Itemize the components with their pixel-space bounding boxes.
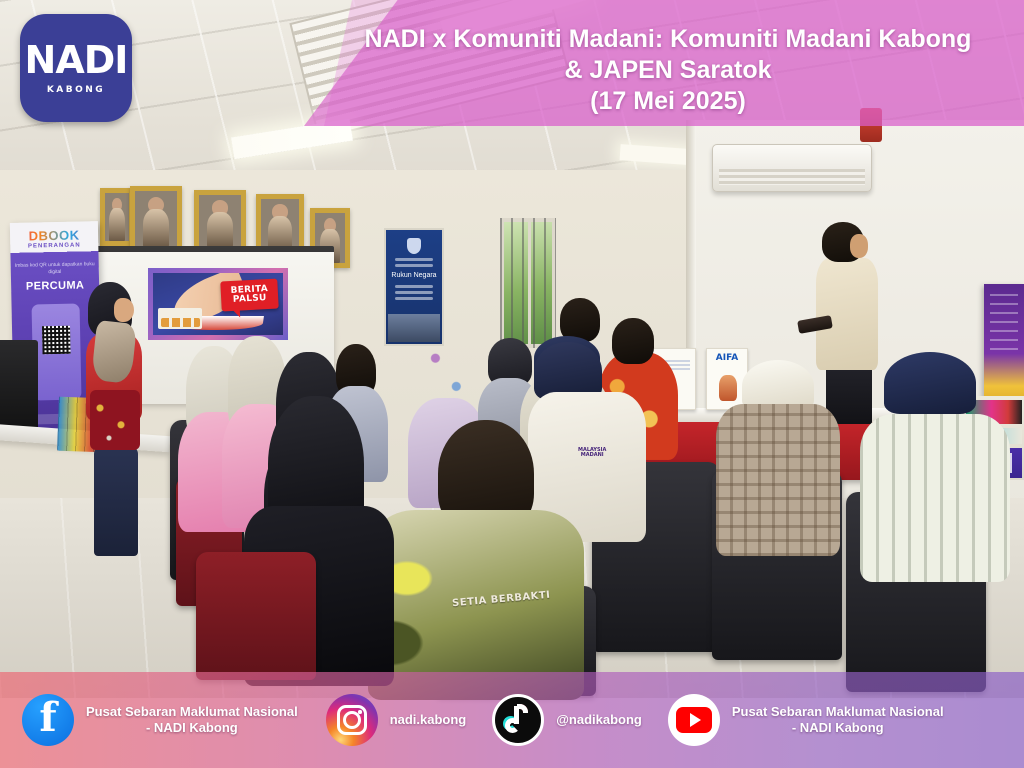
facebook-glyph: f	[39, 698, 56, 738]
standing-attendee	[822, 222, 892, 432]
social-item-tiktok[interactable]: @nadikabong	[492, 672, 642, 768]
title-line-1: NADI x Komuniti Madani: Komuniti Madani …	[330, 24, 1006, 55]
standee-line	[395, 291, 433, 294]
standee-line	[395, 258, 433, 261]
title-line-2: & JAPEN Saratok	[330, 55, 1006, 86]
rukun-negara-standee: Rukun Negara	[384, 228, 444, 346]
social-footer: f Pusat Sebaran Maklumat Nasional - NADI…	[0, 672, 1024, 768]
aifa-figure	[719, 375, 737, 401]
berita-palsu-stamp: BERITA PALSU	[220, 279, 279, 312]
title-line-3: (17 Mei 2025)	[330, 86, 1006, 117]
malaysia-madani-badge: MALAYSIA MADANI	[578, 448, 606, 458]
facebook-label-line1: Pusat Sebaran Maklumat Nasional	[86, 704, 298, 720]
window-grill	[500, 218, 556, 348]
instagram-label: nadi.kabong	[390, 712, 467, 728]
youtube-glyph	[676, 707, 712, 733]
slide-content: BERITA PALSU	[153, 273, 283, 335]
dbook-logo: DBOOK PENERANGAN	[10, 227, 98, 250]
presenter	[88, 282, 148, 558]
presentation-slide: BERITA PALSU	[148, 268, 288, 340]
purple-wall-banner	[984, 284, 1024, 400]
dbook-tagline: Imbas kod QR untuk dapatkan buku digital	[11, 261, 99, 277]
attendee-body	[860, 414, 1010, 582]
social-item-instagram[interactable]: nadi.kabong	[326, 672, 467, 768]
berita-palsu-line2: PALSU	[232, 294, 266, 305]
facebook-label-line2: - NADI Kabong	[86, 720, 298, 736]
presenter-trousers	[94, 446, 138, 556]
social-item-facebook[interactable]: f Pusat Sebaran Maklumat Nasional - NADI…	[22, 672, 298, 768]
youtube-label-line2: - NADI Kabong	[732, 720, 944, 736]
air-conditioner	[712, 144, 872, 192]
instagram-icon[interactable]	[326, 694, 378, 746]
attendee-body	[716, 404, 840, 556]
attendee-cap	[884, 352, 976, 414]
standee-line	[395, 264, 433, 267]
logo-brand-text: NADI	[25, 41, 128, 79]
attendee-head	[612, 318, 654, 364]
attendee-face	[850, 234, 868, 258]
logo-location-text: KABONG	[47, 85, 105, 95]
standee-line	[395, 285, 433, 288]
presenter-face	[114, 298, 134, 322]
dbook-logo-subtitle: PENERANGAN	[10, 242, 98, 250]
standee-line	[395, 297, 433, 300]
tiktok-glyph	[503, 704, 533, 736]
wall-portrait	[100, 188, 134, 246]
crest-icon	[407, 238, 421, 254]
tiktok-icon[interactable]	[492, 694, 544, 746]
standee-title: Rukun Negara	[386, 272, 442, 279]
auditorium-chair	[196, 552, 316, 680]
wall-portrait	[194, 190, 246, 252]
youtube-label: Pusat Sebaran Maklumat Nasional - NADI K…	[732, 704, 944, 736]
badge-line2: MADANI	[581, 452, 604, 458]
slide-food-card	[158, 308, 202, 329]
presenter-batik	[90, 390, 140, 450]
nadi-kabong-logo: NADI KABONG	[20, 14, 132, 122]
facebook-icon[interactable]: f	[22, 694, 74, 746]
desktop-monitor	[0, 340, 38, 436]
youtube-label-line1: Pusat Sebaran Maklumat Nasional	[732, 704, 944, 720]
instagram-glyph	[337, 705, 367, 735]
event-photo-card: Rukun Negara BERITA PALSU DBOOK	[0, 0, 1024, 768]
social-item-youtube[interactable]: Pusat Sebaran Maklumat Nasional - NADI K…	[668, 672, 944, 768]
tiktok-label: @nadikabong	[556, 712, 642, 728]
page-title: NADI x Komuniti Madani: Komuniti Madani …	[330, 24, 1006, 117]
attendee-shirt	[816, 258, 878, 370]
dbook-highlight: PERCUMA	[11, 279, 99, 293]
youtube-icon[interactable]	[668, 694, 720, 746]
facebook-label: Pusat Sebaran Maklumat Nasional - NADI K…	[86, 704, 298, 736]
aifa-title: AIFA	[707, 353, 747, 363]
tiktok-note-hook	[517, 704, 528, 713]
wall-portrait	[130, 186, 182, 252]
qr-code-icon	[42, 326, 71, 355]
